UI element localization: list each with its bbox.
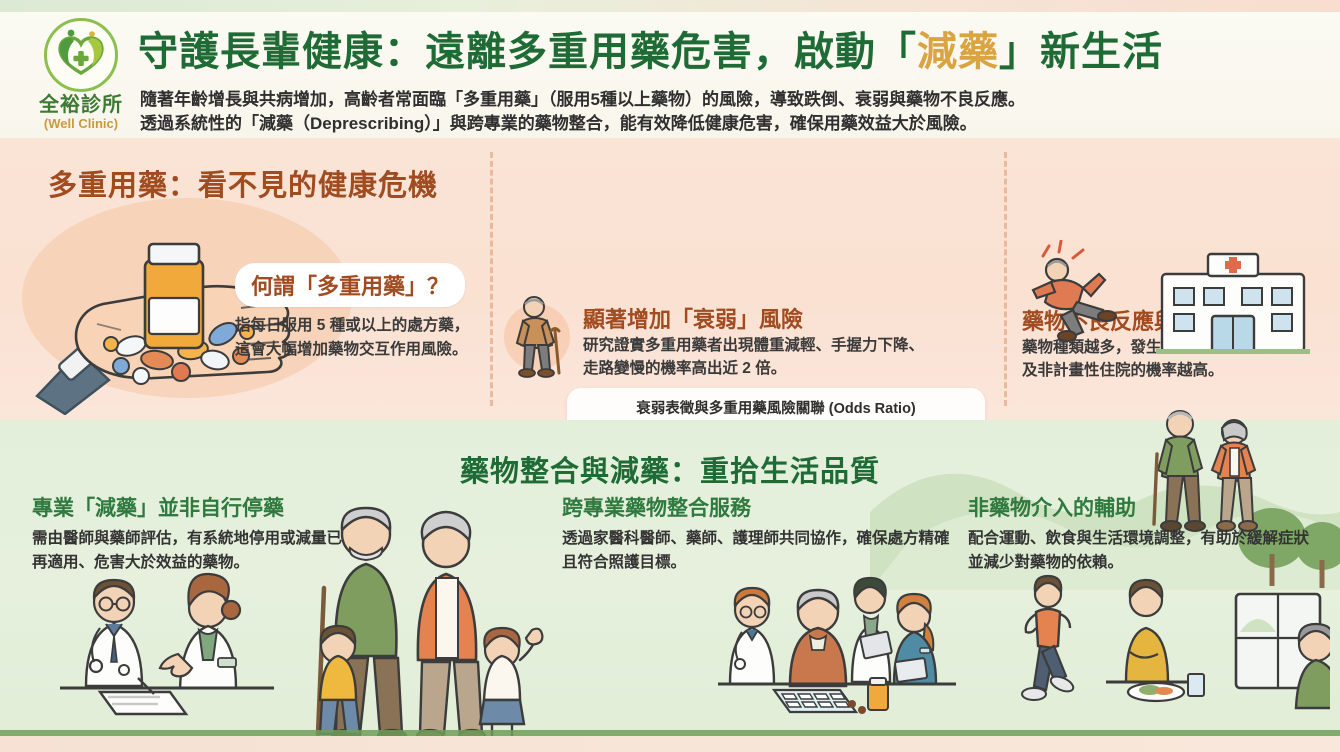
- title-highlight-term: 減藥: [917, 30, 999, 74]
- family-walking-illustration: [296, 488, 556, 740]
- risks-section: 多重用藥：看不見的健康危機: [0, 138, 1340, 420]
- header-bar: 全裕診所 (Well Clinic) 守護長輩健康：遠離多重用藥危害，啟動「減藥…: [0, 12, 1340, 139]
- doctor-and-pharmacist-consulting-illustration: [42, 566, 292, 736]
- frailty-body: 研究證實多重用藥者出現體重減輕、手握力下降、 走路變慢的機率高出近 2 倍。: [583, 334, 924, 381]
- frailty-heading: 顯著增加「衰弱」風險: [583, 302, 803, 334]
- adr-body-line-2: 及非計畫性住院的機率越高。: [1022, 359, 1270, 382]
- solution-3-heading: 非藥物介入的輔助: [968, 492, 1318, 522]
- title-part-1: 守護長輩健康：遠離多重用藥危害，啟動「: [138, 30, 917, 74]
- care-team-with-pill-organizer-illustration: [712, 572, 962, 732]
- header-subtitle-line-2: 透過系統性的「減藥（Deprescribing）」與跨專業的藥物整合，能有效降低…: [140, 112, 1025, 136]
- elderly-man-with-cane-icon: [503, 293, 575, 383]
- bottom-illustration-band: [0, 556, 1340, 740]
- elderly-person-falling-icon: [1015, 240, 1155, 350]
- infographic-poster: 全裕診所 (Well Clinic) 守護長輩健康：遠離多重用藥危害，啟動「減藥…: [0, 0, 1340, 752]
- header-subtitle: 隨著年齡增長與共病增加，高齡者常面臨「多重用藥」（服用5種以上藥物）的風險，導致…: [140, 88, 1025, 136]
- top-decorative-strip: [0, 0, 1340, 12]
- solutions-heading: 藥物整合與減藥：重拾生活品質: [0, 448, 1340, 490]
- clinic-logo: 全裕診所 (Well Clinic): [22, 18, 140, 132]
- divider-dashed-right: [1004, 152, 1007, 406]
- definition-title: 何謂「多重用藥」？: [235, 263, 465, 307]
- page-title: 守護長輩健康：遠離多重用藥危害，啟動「減藥」新生活: [138, 29, 1163, 75]
- frailty-body-line-2: 走路變慢的機率高出近 2 倍。: [583, 357, 924, 380]
- frailty-body-line-1: 研究證實多重用藥者出現體重減輕、手握力下降、: [583, 334, 924, 357]
- solution-2-heading: 跨專業藥物整合服務: [562, 492, 954, 522]
- footer-strip: [0, 736, 1340, 752]
- clinic-name-zh: 全裕診所: [22, 94, 140, 116]
- chart-title: 衰弱表徵與多重用藥風險關聯 (Odds Ratio): [567, 388, 985, 418]
- definition-card: 何謂「多重用藥」？ 指每日服用 5 種或以上的處方藥，這會大幅增加藥物交互作用風…: [235, 263, 470, 362]
- risks-left-heading: 多重用藥：看不見的健康危機: [48, 162, 438, 204]
- definition-body: 指每日服用 5 種或以上的處方藥，這會大幅增加藥物交互作用風險。: [235, 314, 470, 362]
- clinic-heart-leaf-logo-icon: [44, 18, 118, 92]
- clinic-name-en: (Well Clinic): [22, 116, 140, 132]
- divider-dashed-left: [490, 152, 493, 406]
- title-part-2: 」新生活: [999, 30, 1163, 74]
- header-subtitle-line-1: 隨著年齡增長與共病增加，高齡者常面臨「多重用藥」（服用5種以上藥物）的風險，導致…: [140, 88, 1025, 112]
- hospital-building-icon: [1152, 246, 1314, 356]
- exercise-diet-and-home-environment-illustration: [1000, 570, 1330, 732]
